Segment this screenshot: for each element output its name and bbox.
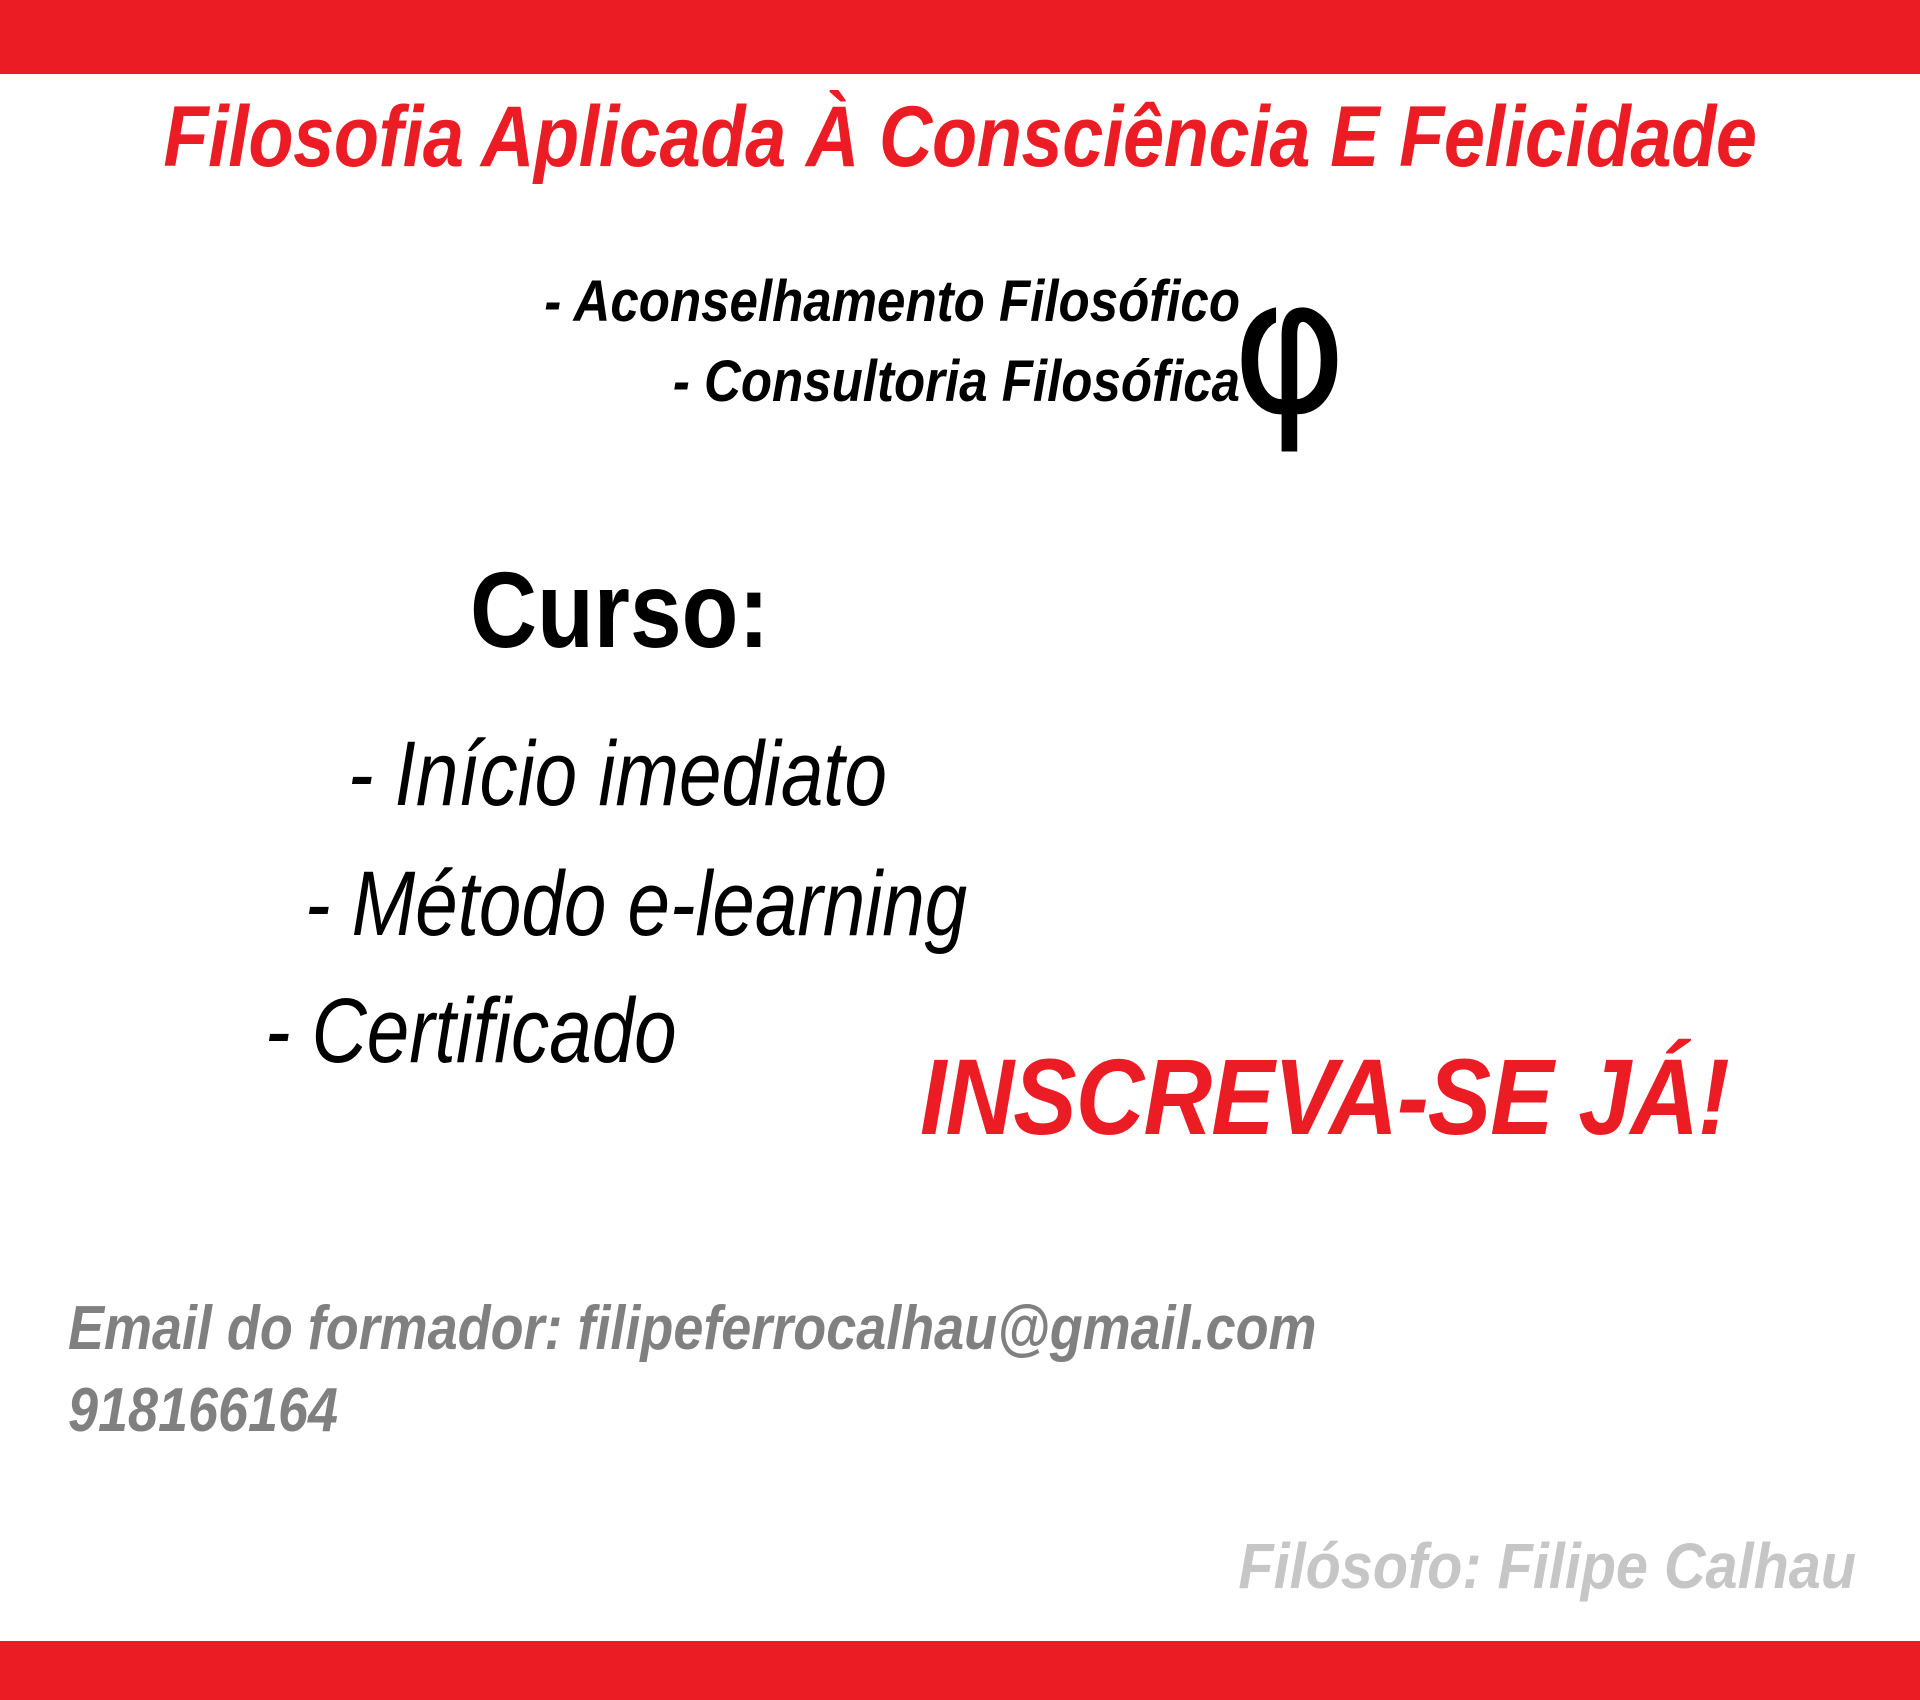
contact-email-line[interactable]: Email do formador: filipeferrocalhau@gma… xyxy=(68,1288,1317,1370)
bottom-accent-bar xyxy=(0,1641,1920,1700)
enroll-call-to-action[interactable]: INSCREVA-SE JÁ! xyxy=(920,1043,1729,1151)
contact-block: Email do formador: filipeferrocalhau@gma… xyxy=(68,1288,1317,1453)
top-accent-bar xyxy=(0,0,1920,74)
course-item-metodo: - Método e-learning xyxy=(305,858,967,950)
course-item-inicio: - Início imediato xyxy=(348,728,887,820)
poster-canvas: Filosofia Aplicada À Consciência E Felic… xyxy=(0,0,1920,1700)
services-list: - Aconselhamento Filosófico - Consultori… xyxy=(360,262,1240,422)
course-item-certificado: - Certificado xyxy=(265,985,677,1077)
services-item-0: - Aconselhamento Filosófico xyxy=(360,262,1240,342)
contact-phone[interactable]: 918166164 xyxy=(68,1370,1317,1452)
philosopher-signature: Filósofo: Filipe Calhau xyxy=(186,1534,1856,1598)
phi-symbol-icon: φ xyxy=(1232,252,1347,442)
services-item-1: - Consultoria Filosófica xyxy=(360,342,1240,422)
course-heading: Curso: xyxy=(470,556,769,664)
page-title: Filosofia Aplicada À Consciência E Felic… xyxy=(134,94,1785,180)
